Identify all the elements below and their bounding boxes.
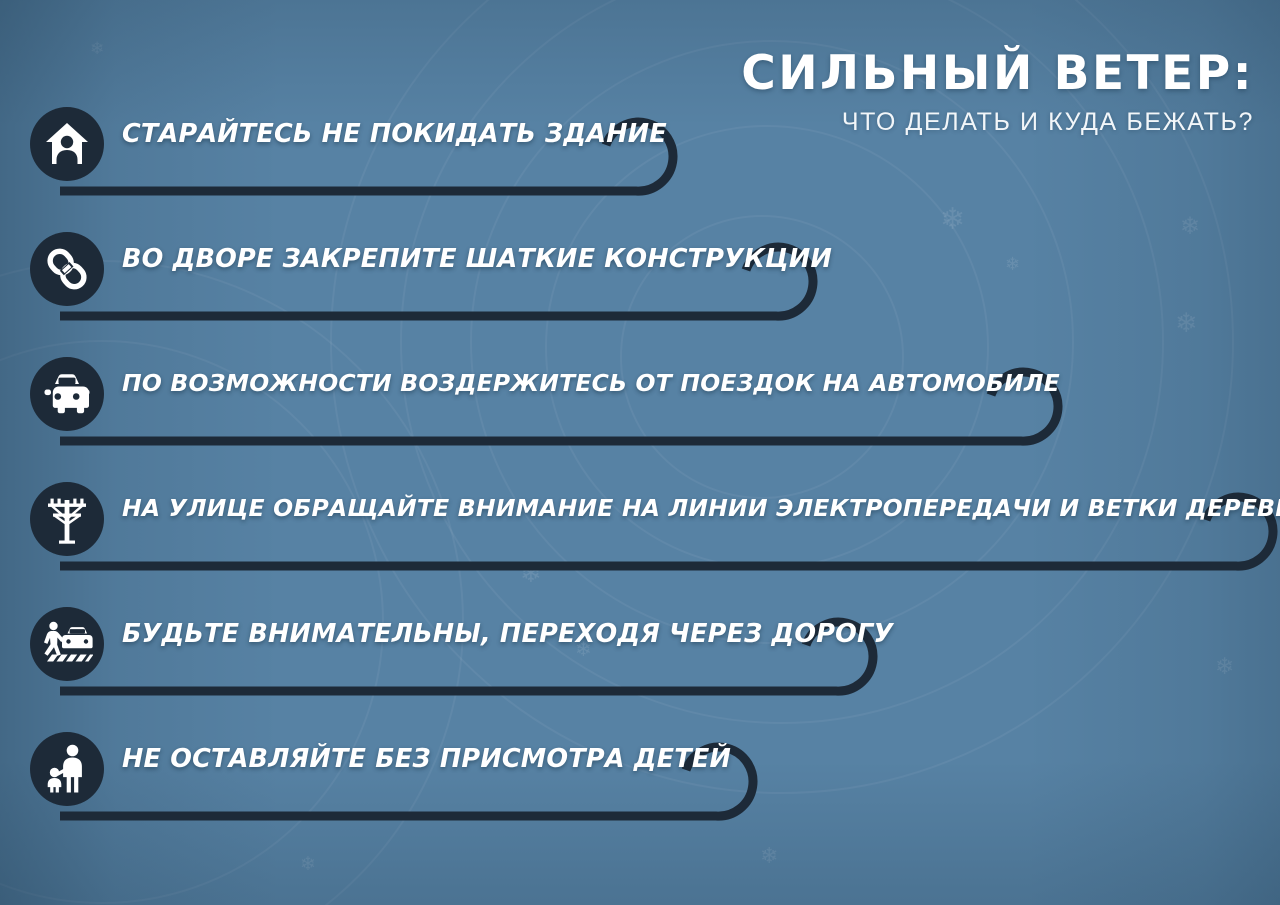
tip-label: ВО ДВОРЕ ЗАКРЕПИТЕ ШАТКИЕ КОНСТРУКЦИИ	[122, 244, 832, 274]
tip-row: БУДЬТЕ ВНИМАТЕЛЬНЫ, ПЕРЕХОДЯ ЧЕРЕЗ ДОРОГ…	[30, 605, 900, 701]
snowflake-icon: ❄	[1215, 655, 1234, 678]
snowflake-icon: ❄	[940, 205, 965, 235]
tip-label: НА УЛИЦЕ ОБРАЩАЙТЕ ВНИМАНИЕ НА ЛИНИИ ЭЛЕ…	[122, 494, 1280, 522]
power-line-pole-icon	[43, 494, 91, 544]
tip-icon-circle	[30, 482, 104, 556]
house-with-person-icon	[44, 121, 90, 167]
tip-row: СТАРАЙТЕСЬ НЕ ПОКИДАТЬ ЗДАНИЕ	[30, 105, 700, 201]
snowflake-icon: ❄	[300, 855, 316, 874]
poster-title: СИЛЬНЫЙ ВЕТЕР:	[741, 50, 1254, 97]
tip-row: НЕ ОСТАВЛЯЙТЕ БЕЗ ПРИСМОТРА ДЕТЕЙ	[30, 730, 780, 826]
snowflake-icon: ❄	[1175, 310, 1198, 337]
tip-label: ПО ВОЗМОЖНОСТИ ВОЗДЕРЖИТЕСЬ ОТ ПОЕЗДОК Н…	[122, 369, 1060, 397]
tip-icon-circle	[30, 732, 104, 806]
tip-icon-circle	[30, 107, 104, 181]
tip-row: ПО ВОЗМОЖНОСТИ ВОЗДЕРЖИТЕСЬ ОТ ПОЕЗДОК Н…	[30, 355, 1085, 451]
snowflake-icon: ❄	[1005, 255, 1020, 273]
tip-label: СТАРАЙТЕСЬ НЕ ПОКИДАТЬ ЗДАНИЕ	[122, 119, 667, 149]
poster-subtitle: ЧТО ДЕЛАТЬ И КУДА БЕЖАТЬ?	[741, 108, 1254, 137]
tip-icon-circle	[30, 232, 104, 306]
tip-row: ВО ДВОРЕ ЗАКРЕПИТЕ ШАТКИЕ КОНСТРУКЦИИ	[30, 230, 840, 326]
tip-label: БУДЬТЕ ВНИМАТЕЛЬНЫ, ПЕРЕХОДЯ ЧЕРЕЗ ДОРОГ…	[122, 619, 893, 649]
tip-icon-circle	[30, 357, 104, 431]
infographic-poster: ❄ ❄ ❄ ❄ ❄ ❄ ❄ ❄ ❄ ❄ СИЛЬНЫЙ ВЕТЕР: ЧТО Д…	[0, 0, 1280, 905]
tip-label: НЕ ОСТАВЛЯЙТЕ БЕЗ ПРИСМОТРА ДЕТЕЙ	[122, 744, 731, 774]
pedestrian-crossing-icon	[41, 621, 93, 667]
car-front-icon	[43, 373, 91, 415]
poster-header: СИЛЬНЫЙ ВЕТЕР: ЧТО ДЕЛАТЬ И КУДА БЕЖАТЬ?	[741, 50, 1254, 137]
snowflake-icon: ❄	[1180, 215, 1200, 239]
tip-row: НА УЛИЦЕ ОБРАЩАЙТЕ ВНИМАНИЕ НА ЛИНИИ ЭЛЕ…	[30, 480, 1280, 576]
snowflake-icon: ❄	[90, 40, 104, 57]
adult-with-child-icon	[44, 744, 90, 794]
snowflake-icon: ❄	[760, 845, 778, 867]
tip-icon-circle	[30, 607, 104, 681]
chain-link-icon	[44, 246, 90, 292]
